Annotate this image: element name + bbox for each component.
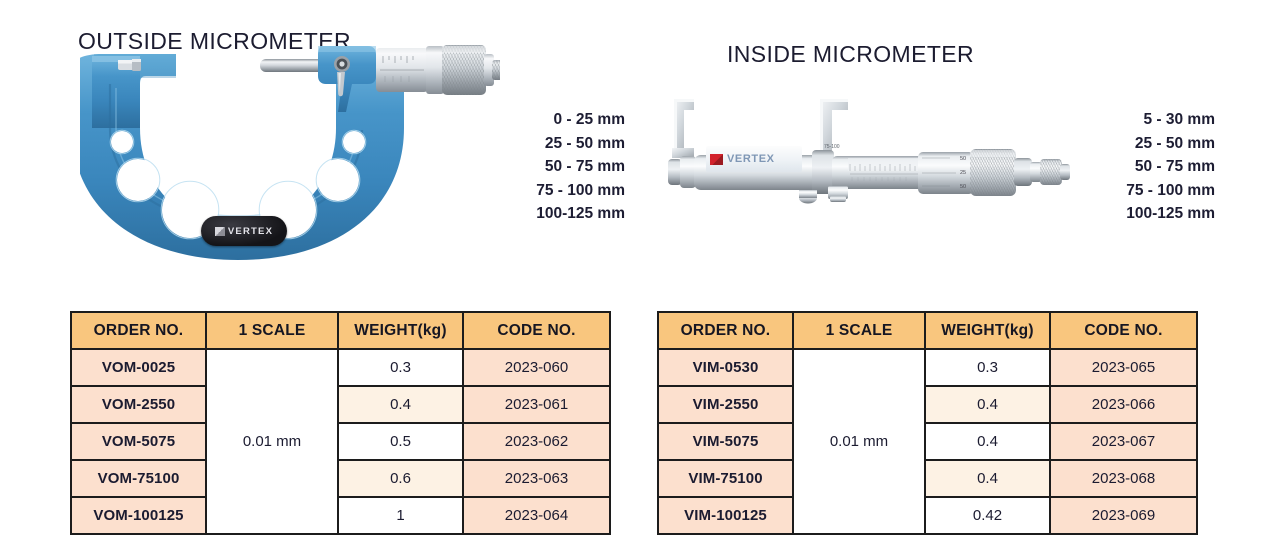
column-header-scale: 1 SCALE	[207, 313, 337, 348]
cell-order-no: VIM-5075	[659, 424, 792, 459]
inside-micrometer-range-list: 5 - 30 mm 25 - 50 mm 50 - 75 mm 75 - 100…	[1060, 108, 1215, 226]
table-row: VOM-100125 1 2023-064	[72, 498, 609, 533]
table-row: VIM-0530 0.01 mm 0.3 2023-065	[659, 350, 1196, 385]
column-header-weight: WEIGHT(kg)	[339, 313, 462, 348]
column-header-code-no: CODE NO.	[464, 313, 609, 348]
cell-order-no: VIM-100125	[659, 498, 792, 533]
cell-code-no: 2023-066	[1051, 387, 1196, 422]
column-header-weight: WEIGHT(kg)	[926, 313, 1049, 348]
thimble-tick-label: 50	[960, 156, 966, 162]
cell-code-no: 2023-068	[1051, 461, 1196, 496]
cell-scale-value: 0.01 mm	[207, 350, 337, 533]
cell-code-no: 2023-064	[464, 498, 609, 533]
table-row: VOM-2550 0.4 2023-061	[72, 387, 609, 422]
column-header-scale: 1 SCALE	[794, 313, 924, 348]
cell-weight: 0.4	[339, 387, 462, 422]
column-header-code-no: CODE NO.	[1051, 313, 1196, 348]
table-row: VIM-5075 0.4 2023-067	[659, 424, 1196, 459]
cell-scale-value: 0.01 mm	[794, 350, 924, 533]
thimble-tick-label: 25	[960, 170, 966, 176]
cell-weight: 0.3	[926, 350, 1049, 385]
table-row: VIM-2550 0.4 2023-066	[659, 387, 1196, 422]
cell-order-no: VIM-0530	[659, 350, 792, 385]
cell-code-no: 2023-063	[464, 461, 609, 496]
range-item: 50 - 75 mm	[1060, 155, 1215, 179]
vertex-brand-label: VERTEX	[727, 153, 775, 165]
cell-weight: 0.5	[339, 424, 462, 459]
cell-order-no: VIM-75100	[659, 461, 792, 496]
cell-order-no: VOM-0025	[72, 350, 205, 385]
table-row: VOM-5075 0.5 2023-062	[72, 424, 609, 459]
cell-weight: 0.4	[926, 461, 1049, 496]
vertex-brand-label: VERTEX	[228, 226, 273, 237]
range-item: 75 - 100 mm	[1060, 179, 1215, 203]
cell-code-no: 2023-067	[1051, 424, 1196, 459]
cell-code-no: 2023-061	[464, 387, 609, 422]
table-row: VOM-75100 0.6 2023-063	[72, 461, 609, 496]
column-header-order-no: ORDER NO.	[659, 313, 792, 348]
range-item: 0 - 25 mm	[470, 108, 625, 132]
outside-micrometer-spec-table: ORDER NO. 1 SCALE WEIGHT(kg) CODE NO. VO…	[70, 311, 611, 535]
table-row: VIM-75100 0.4 2023-068	[659, 461, 1196, 496]
inside-micrometer-spec-table: ORDER NO. 1 SCALE WEIGHT(kg) CODE NO. VI…	[657, 311, 1198, 535]
vertex-brand-badge: VERTEX	[706, 146, 802, 172]
cell-code-no: 2023-065	[1051, 350, 1196, 385]
table-header-row: ORDER NO. 1 SCALE WEIGHT(kg) CODE NO.	[72, 313, 609, 348]
range-item: 25 - 50 mm	[470, 132, 625, 156]
column-header-order-no: ORDER NO.	[72, 313, 205, 348]
cell-order-no: VIM-2550	[659, 387, 792, 422]
cell-weight: 0.4	[926, 387, 1049, 422]
cell-weight: 1	[339, 498, 462, 533]
vertex-logo-mark	[710, 154, 723, 165]
range-item: 75 - 100 mm	[470, 179, 625, 203]
cell-code-no: 2023-069	[1051, 498, 1196, 533]
cell-order-no: VOM-100125	[72, 498, 205, 533]
cell-weight: 0.42	[926, 498, 1049, 533]
inside-micrometer-image: 75-100	[660, 86, 1080, 216]
range-item: 100-125 mm	[470, 202, 625, 226]
table-row: VIM-100125 0.42 2023-069	[659, 498, 1196, 533]
vertex-brand-badge: VERTEX	[201, 216, 287, 246]
table-row: VOM-0025 0.01 mm 0.3 2023-060	[72, 350, 609, 385]
outside-micrometer-graphic	[80, 32, 500, 260]
cell-order-no: VOM-2550	[72, 387, 205, 422]
range-item: 5 - 30 mm	[1060, 108, 1215, 132]
range-item: 25 - 50 mm	[1060, 132, 1215, 156]
outside-micrometer-image: VERTEX	[80, 32, 500, 260]
anvil-range-marking: 75-100	[824, 144, 840, 150]
cell-code-no: 2023-060	[464, 350, 609, 385]
outside-micrometer-range-list: 0 - 25 mm 25 - 50 mm 50 - 75 mm 75 - 100…	[470, 108, 625, 226]
cell-weight: 0.6	[339, 461, 462, 496]
table-header-row: ORDER NO. 1 SCALE WEIGHT(kg) CODE NO.	[659, 313, 1196, 348]
cell-weight: 0.4	[926, 424, 1049, 459]
thimble-tick-label: 50	[960, 184, 966, 190]
range-item: 100-125 mm	[1060, 202, 1215, 226]
cell-order-no: VOM-75100	[72, 461, 205, 496]
cell-code-no: 2023-062	[464, 424, 609, 459]
cell-weight: 0.3	[339, 350, 462, 385]
range-item: 50 - 75 mm	[470, 155, 625, 179]
inside-micrometer-title: INSIDE MICROMETER	[727, 41, 974, 68]
cell-order-no: VOM-5075	[72, 424, 205, 459]
vertex-logo-mark	[215, 227, 225, 236]
